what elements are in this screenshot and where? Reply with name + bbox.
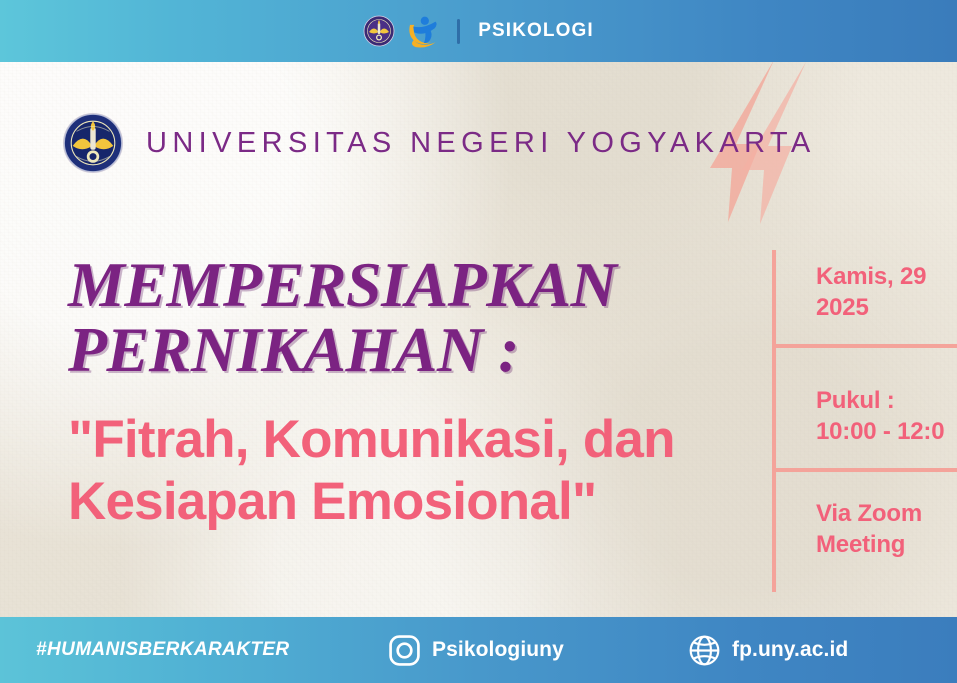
event-date-line1: Kamis, 29: [816, 261, 957, 292]
website-contact[interactable]: fp.uny.ac.id: [688, 634, 848, 667]
event-title: MEMPERSIAPKAN PERNIKAHAN :: [68, 252, 768, 383]
top-banner: PSIKOLOGI: [0, 0, 957, 62]
event-title-line2: PERNIKAHAN :: [68, 317, 768, 382]
event-details-table: Kamis, 29 2025 Pukul : 10:00 - 12:0 Via …: [772, 250, 957, 592]
event-subtitle-line1: "Fitrah, Komunikasi, dan: [68, 410, 675, 469]
topbar-brand-label: PSIKOLOGI: [478, 20, 593, 42]
event-platform-line1: Via Zoom: [816, 498, 957, 529]
instagram-icon: [388, 634, 421, 667]
table-horizontal-rule: [772, 468, 957, 472]
footer-bar: #HUMANISBERKARAKTER Psikologiuny fp.uny.…: [0, 617, 957, 683]
event-date: Kamis, 29 2025: [816, 261, 957, 323]
university-header: UNIVERSITAS NEGERI YOGYAKARTA: [62, 112, 816, 174]
event-subtitle-line2: Kesiapan Emosional": [68, 471, 768, 534]
university-name-label: UNIVERSITAS NEGERI YOGYAKARTA: [146, 127, 816, 160]
uny-seal-icon: [62, 112, 124, 174]
table-vertical-rule: [772, 250, 776, 592]
instagram-contact[interactable]: Psikologiuny: [388, 634, 564, 667]
globe-icon: [688, 634, 721, 667]
top-banner-brand-group: PSIKOLOGI: [363, 15, 593, 48]
footer-hashtag: #HUMANISBERKARAKTER: [36, 639, 290, 661]
event-title-line1: MEMPERSIAPKAN: [68, 249, 616, 320]
event-subtitle: "Fitrah, Komunikasi, dan Kesiapan Emosio…: [68, 409, 768, 534]
vertical-divider-icon: [457, 19, 460, 44]
title-block: MEMPERSIAPKAN PERNIKAHAN : "Fitrah, Komu…: [68, 252, 768, 534]
psikologi-mark-icon: [404, 15, 444, 48]
poster-canvas: PSIKOLOGI UNIVERSITAS NEGERI YOGYAKARTA …: [0, 0, 957, 683]
event-date-line2: 2025: [816, 292, 957, 323]
event-time-value: 10:00 - 12:0: [816, 416, 957, 447]
event-time: Pukul : 10:00 - 12:0: [816, 385, 957, 447]
uny-seal-icon: [363, 15, 395, 47]
table-horizontal-rule: [772, 344, 957, 348]
event-platform: Via Zoom Meeting: [816, 498, 957, 560]
event-platform-line2: Meeting: [816, 529, 957, 560]
website-url-label: fp.uny.ac.id: [732, 638, 848, 662]
instagram-handle-label: Psikologiuny: [432, 638, 564, 662]
event-time-label: Pukul :: [816, 385, 957, 416]
